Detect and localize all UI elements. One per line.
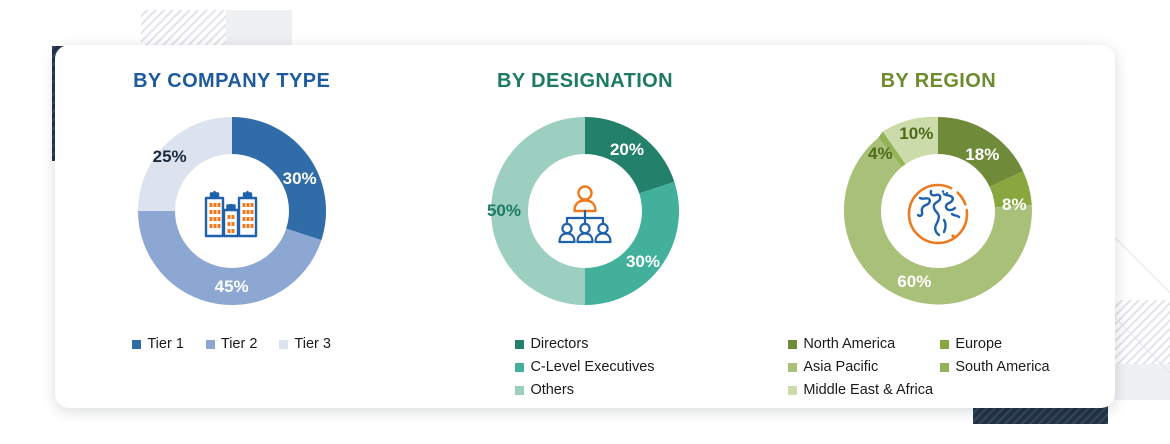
legend-label-asia-pacific: Asia Pacific [803, 359, 878, 375]
panel-title-designation: BY DESIGNATION [497, 70, 673, 93]
legend-item-tier-2[interactable]: Tier 2 [206, 336, 258, 352]
legend-item-directors[interactable]: Directors [515, 336, 588, 352]
panel-by-designation: BY DESIGNATION 20% 30% 50% [408, 45, 761, 408]
legend-label-europe: Europe [955, 336, 1002, 352]
legend-item-south-america[interactable]: South America [940, 359, 1074, 375]
legend-label-others: Others [530, 382, 574, 398]
legend-swatch-icon-tier-2 [206, 340, 215, 349]
donut-company-type: 30% 45% 25% [128, 107, 336, 320]
legend-item-north-america[interactable]: North America [788, 336, 922, 352]
legend-label-north-america: North America [803, 336, 895, 352]
org-hierarchy-icon [549, 178, 621, 250]
legend-swatch-icon-directors [515, 340, 524, 349]
legend-company-type: Tier 1 Tier 2 Tier 3 [132, 336, 331, 352]
legend-label-tier-2: Tier 2 [221, 336, 258, 352]
legend-label-middle-east-africa: Middle East & Africa [803, 382, 933, 398]
legend-swatch-icon-north-america [788, 340, 797, 349]
legend-designation: Directors C-Level Executives Others [515, 336, 654, 398]
infographic-canvas: BY COMPANY TYPE 30% 45% 25% [0, 0, 1170, 444]
legend-swatch-icon-south-america [940, 363, 949, 372]
legend-item-c-level-executives[interactable]: C-Level Executives [515, 359, 654, 375]
legend-swatch-icon-c-level-executives [515, 363, 524, 372]
legend-item-europe[interactable]: Europe [940, 336, 1074, 352]
legend-swatch-icon-others [515, 386, 524, 395]
legend-swatch-icon-asia-pacific [788, 363, 797, 372]
panel-title-company-type: BY COMPANY TYPE [133, 70, 330, 93]
legend-label-tier-3: Tier 3 [294, 336, 331, 352]
decor-block-bottom-right [1108, 364, 1170, 400]
content-card: BY COMPANY TYPE 30% 45% 25% [55, 45, 1115, 408]
office-buildings-icon [196, 178, 268, 250]
legend-item-others[interactable]: Others [515, 382, 574, 398]
donut-region: 18% 8% 60% 4% 10% [834, 107, 1042, 320]
legend-item-tier-3[interactable]: Tier 3 [279, 336, 331, 352]
legend-swatch-icon-europe [940, 340, 949, 349]
legend-item-tier-1[interactable]: Tier 1 [132, 336, 184, 352]
legend-label-tier-1: Tier 1 [147, 336, 184, 352]
legend-label-c-level-executives: C-Level Executives [530, 359, 654, 375]
legend-region: North America Europe Asia Pacific South … [788, 336, 1088, 398]
legend-label-south-america: South America [955, 359, 1049, 375]
panel-by-company-type: BY COMPANY TYPE 30% 45% 25% [55, 45, 408, 408]
legend-swatch-icon-tier-1 [132, 340, 141, 349]
legend-label-directors: Directors [530, 336, 588, 352]
legend-item-asia-pacific[interactable]: Asia Pacific [788, 359, 922, 375]
globe-icon [900, 176, 976, 252]
panel-by-region: BY REGION [762, 45, 1115, 408]
legend-swatch-icon-middle-east-africa [788, 386, 797, 395]
panel-title-region: BY REGION [881, 70, 996, 93]
legend-swatch-icon-tier-3 [279, 340, 288, 349]
donut-designation: 20% 30% 50% [481, 107, 689, 320]
legend-item-middle-east-africa[interactable]: Middle East & Africa [788, 382, 922, 398]
